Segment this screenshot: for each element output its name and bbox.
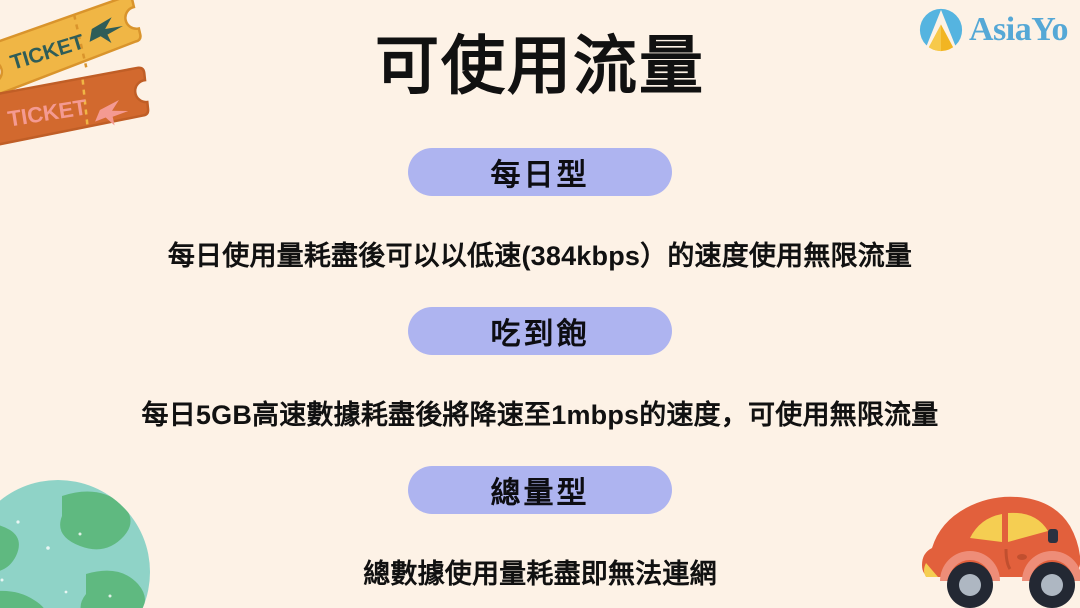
description-daily: 每日使用量耗盡後可以以低速(384kbps）的速度使用無限流量 xyxy=(0,234,1080,273)
poster-canvas: TICKET TICKET xyxy=(0,0,1080,608)
badge-total[interactable]: 總量型 xyxy=(408,466,672,514)
section-unlimited: 吃到飽 每日5GB高速數據耗盡後將降速至1mbps的速度，可使用無限流量 xyxy=(0,307,1080,432)
description-total: 總數據使用量耗盡即無法連網 xyxy=(0,552,1080,591)
badge-row-total: 總量型 xyxy=(0,466,1080,514)
page-title: 可使用流量 xyxy=(0,34,1080,98)
content-stack: 每日型 每日使用量耗盡後可以以低速(384kbps）的速度使用無限流量 吃到飽 … xyxy=(0,148,1080,591)
badge-row-daily: 每日型 xyxy=(0,148,1080,196)
badge-row-unlimited: 吃到飽 xyxy=(0,307,1080,355)
section-total: 總量型 總數據使用量耗盡即無法連網 xyxy=(0,466,1080,591)
badge-unlimited[interactable]: 吃到飽 xyxy=(408,307,672,355)
badge-daily[interactable]: 每日型 xyxy=(408,148,672,196)
section-daily: 每日型 每日使用量耗盡後可以以低速(384kbps）的速度使用無限流量 xyxy=(0,148,1080,273)
ticket-bottom-label: TICKET xyxy=(6,94,89,131)
description-unlimited: 每日5GB高速數據耗盡後將降速至1mbps的速度，可使用無限流量 xyxy=(0,393,1080,432)
